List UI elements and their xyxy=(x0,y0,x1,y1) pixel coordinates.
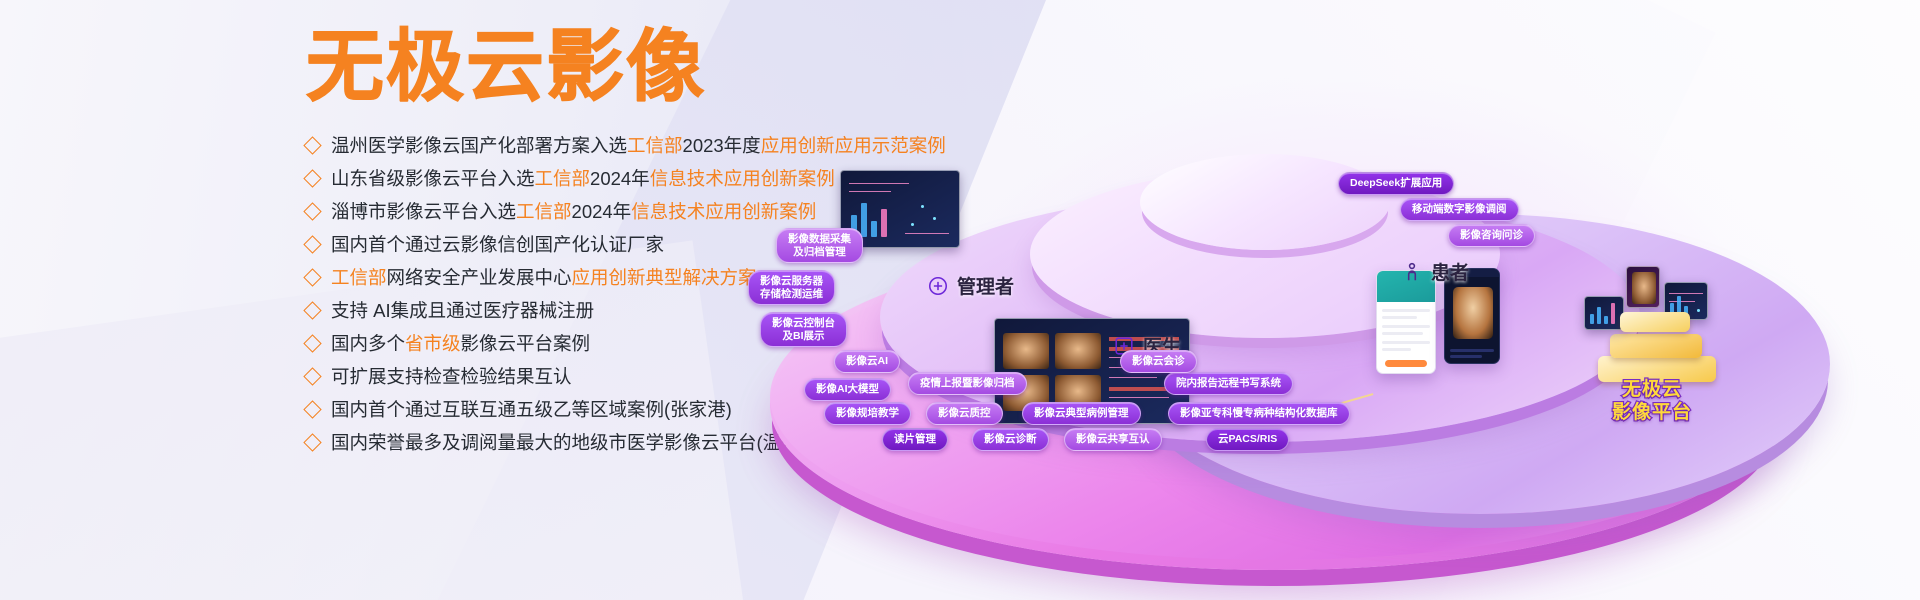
bullet-text: 支持 AI集成且通过医疗器械注册 xyxy=(331,294,594,327)
pill-line: 及归档管理 xyxy=(793,246,846,259)
pill-line: 移动端数字影像调阅 xyxy=(1412,203,1507,216)
pill-line: 院内报告远程书写系统 xyxy=(1176,377,1281,390)
disc-core-pedestal xyxy=(1140,154,1390,250)
banner-stage: 无极云影像 温州医学影像云国产化部署方案入选工信部2023年度应用创新应用示范案… xyxy=(0,0,1920,600)
diamond-bullet-icon xyxy=(303,400,321,418)
patient-person-icon xyxy=(1400,260,1424,284)
diamond-bullet-icon xyxy=(303,202,321,220)
role-label: 管理者 xyxy=(957,272,1014,299)
bullet-plain: 网络安全产业发展中心 xyxy=(387,267,572,288)
page-title: 无极云影像 xyxy=(306,24,706,110)
pill-2[interactable]: 影像云控制台及BI展示 xyxy=(760,312,847,347)
bullet-plain: 国内首个通过云影像信创国产化认证厂家 xyxy=(331,234,664,255)
bullet-highlight: 工信部 xyxy=(535,168,591,189)
core-label-line-1: 无极云 xyxy=(1592,378,1712,401)
pill-0[interactable]: 影像数据采集及归档管理 xyxy=(776,228,863,263)
pill-line: 影像云诊断 xyxy=(984,433,1037,446)
patient-app-phone xyxy=(1376,270,1436,374)
pill-6[interactable]: 影像规培教学 xyxy=(824,402,911,425)
pill-3[interactable]: 影像云AI xyxy=(834,350,900,373)
diamond-bullet-icon xyxy=(303,268,321,286)
pill-line: 读片管理 xyxy=(894,433,936,446)
role-label: 患者 xyxy=(1431,258,1469,285)
pill-line: 疫情上报暨影像归档 xyxy=(920,377,1015,390)
bullet-plain: 影像云平台案例 xyxy=(461,333,591,354)
pill-12[interactable]: 院内报告远程书写系统 xyxy=(1164,372,1293,395)
pill-line: 影像云控制台 xyxy=(772,317,835,330)
pill-1[interactable]: 影像云服务器存储检测运维 xyxy=(748,270,835,305)
bullet-plain: 淄博市影像云平台入选 xyxy=(331,201,516,222)
diamond-bullet-icon xyxy=(303,301,321,319)
bullet-plain: 温州医学影像云国产化部署方案入选 xyxy=(331,135,627,156)
platform-architecture-diagram: 无极云 影像平台 xyxy=(700,110,1920,600)
pill-line: 影像咨询问诊 xyxy=(1460,229,1523,242)
pill-4[interactable]: 影像AI大模型 xyxy=(804,378,891,401)
bullet-text: 国内首个通过互联互通五级乙等区域案例(张家港) xyxy=(331,393,732,426)
pill-line: 存储检测运维 xyxy=(760,288,823,301)
diamond-bullet-icon xyxy=(303,136,321,154)
diamond-bullet-icon xyxy=(303,169,321,187)
bullet-highlight: 工信部 xyxy=(516,201,572,222)
pill-17[interactable]: 移动端数字影像调阅 xyxy=(1400,198,1519,221)
pill-line: 影像云共享互认 xyxy=(1076,433,1150,446)
pill-9[interactable]: 读片管理 xyxy=(882,428,948,451)
diamond-bullet-icon xyxy=(303,334,321,352)
bullet-text: 可扩展支持检查检验结果互认 xyxy=(331,360,572,393)
pill-line: 影像AI大模型 xyxy=(816,383,879,396)
pill-5[interactable]: 疫情上报暨影像归档 xyxy=(908,372,1027,395)
core-platform-label: 无极云 影像平台 xyxy=(1592,378,1712,424)
pill-line: 影像云典型病例管理 xyxy=(1034,407,1129,420)
bullet-highlight: 省市级 xyxy=(405,333,461,354)
pill-13[interactable]: 影像亚专科慢专病种结构化数据库 xyxy=(1168,402,1350,425)
bullet-highlight: 工信部 xyxy=(331,267,387,288)
pill-10[interactable]: 影像云诊断 xyxy=(972,428,1049,451)
bullet-highlight: 工信部 xyxy=(627,135,683,156)
pill-line: DeepSeek扩展应用 xyxy=(1350,177,1442,190)
diamond-bullet-icon xyxy=(303,367,321,385)
diamond-bullet-icon xyxy=(303,433,321,451)
bullet-plain: 2024年 xyxy=(590,168,650,189)
pill-14[interactable]: 云PACS/RIS xyxy=(1206,428,1289,451)
pill-line: 影像云质控 xyxy=(938,407,991,420)
admin-gear-icon xyxy=(926,274,950,298)
diamond-bullet-icon xyxy=(303,235,321,253)
bullet-plain: 可扩展支持检查检验结果互认 xyxy=(331,366,572,387)
bullet-plain: 支持 AI集成且通过医疗器械注册 xyxy=(331,300,594,321)
bullet-plain: 国内首个通过互联互通五级乙等区域案例(张家港) xyxy=(331,399,732,420)
role-patient: 患者 xyxy=(1400,258,1469,285)
pill-line: 影像亚专科慢专病种结构化数据库 xyxy=(1180,407,1338,420)
pill-8[interactable]: 影像云典型病例管理 xyxy=(1022,402,1141,425)
pill-line: 影像云会诊 xyxy=(1132,355,1185,368)
bullet-text: 国内多个省市级影像云平台案例 xyxy=(331,327,590,360)
bullet-plain: 国内多个 xyxy=(331,333,405,354)
pill-line: 影像数据采集 xyxy=(788,233,851,246)
pill-11[interactable]: 影像云共享互认 xyxy=(1064,428,1162,451)
bullet-text: 国内首个通过云影像信创国产化认证厂家 xyxy=(331,228,664,261)
pill-line: 影像规培教学 xyxy=(836,407,899,420)
pill-16[interactable]: DeepSeek扩展应用 xyxy=(1338,172,1454,195)
pill-line: 影像云服务器 xyxy=(760,275,823,288)
pill-line: 影像云AI xyxy=(846,355,888,368)
pill-7[interactable]: 影像云质控 xyxy=(926,402,1003,425)
pill-line: 及BI展示 xyxy=(783,330,825,343)
role-administrator: 管理者 xyxy=(926,272,1014,299)
core-label-line-2: 影像平台 xyxy=(1592,401,1712,424)
bullet-text: 工信部网络安全产业发展中心应用创新典型解决方案 xyxy=(331,261,757,294)
bullet-plain: 2024年 xyxy=(572,201,632,222)
pill-line: 云PACS/RIS xyxy=(1218,433,1277,446)
pill-15[interactable]: 影像云会诊 xyxy=(1120,350,1197,373)
pill-18[interactable]: 影像咨询问诊 xyxy=(1448,224,1535,247)
bullet-plain: 山东省级影像云平台入选 xyxy=(331,168,535,189)
